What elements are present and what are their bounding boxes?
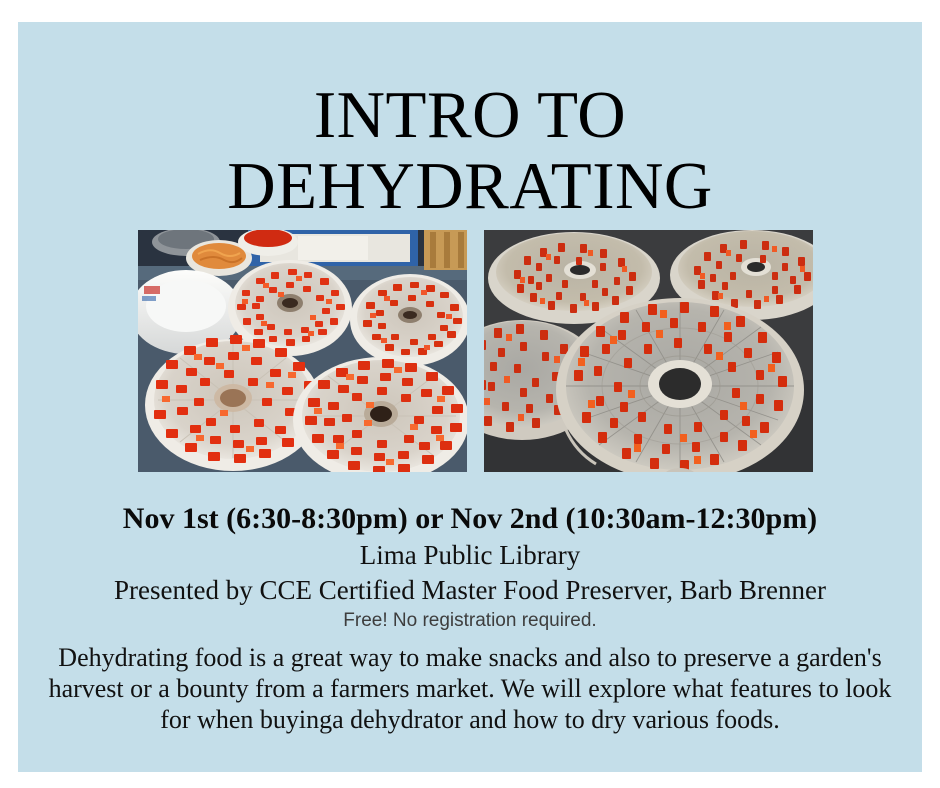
title-line-1: INTRO TO (18, 80, 922, 151)
event-description: Dehydrating food is a great way to make … (36, 642, 904, 735)
event-venue: Lima Public Library (18, 538, 922, 573)
event-poster: INTRO TO DEHYDRATING (18, 22, 922, 772)
dried-peppers-illustration (484, 230, 813, 472)
event-presenter: Presented by CCE Certified Master Food P… (18, 573, 922, 607)
fresh-peppers-illustration (138, 230, 467, 472)
event-cost-note: Free! No registration required. (18, 607, 922, 635)
dried-peppers-photo (484, 230, 813, 472)
event-details: Nov 1st (6:30-8:30pm) or Nov 2nd (10:30a… (18, 500, 922, 635)
title-line-2: DEHYDRATING (18, 151, 922, 222)
page-title: INTRO TO DEHYDRATING (18, 80, 922, 222)
photo-row (138, 230, 818, 472)
event-dates: Nov 1st (6:30-8:30pm) or Nov 2nd (10:30a… (18, 500, 922, 538)
fresh-diced-peppers-photo (138, 230, 467, 472)
